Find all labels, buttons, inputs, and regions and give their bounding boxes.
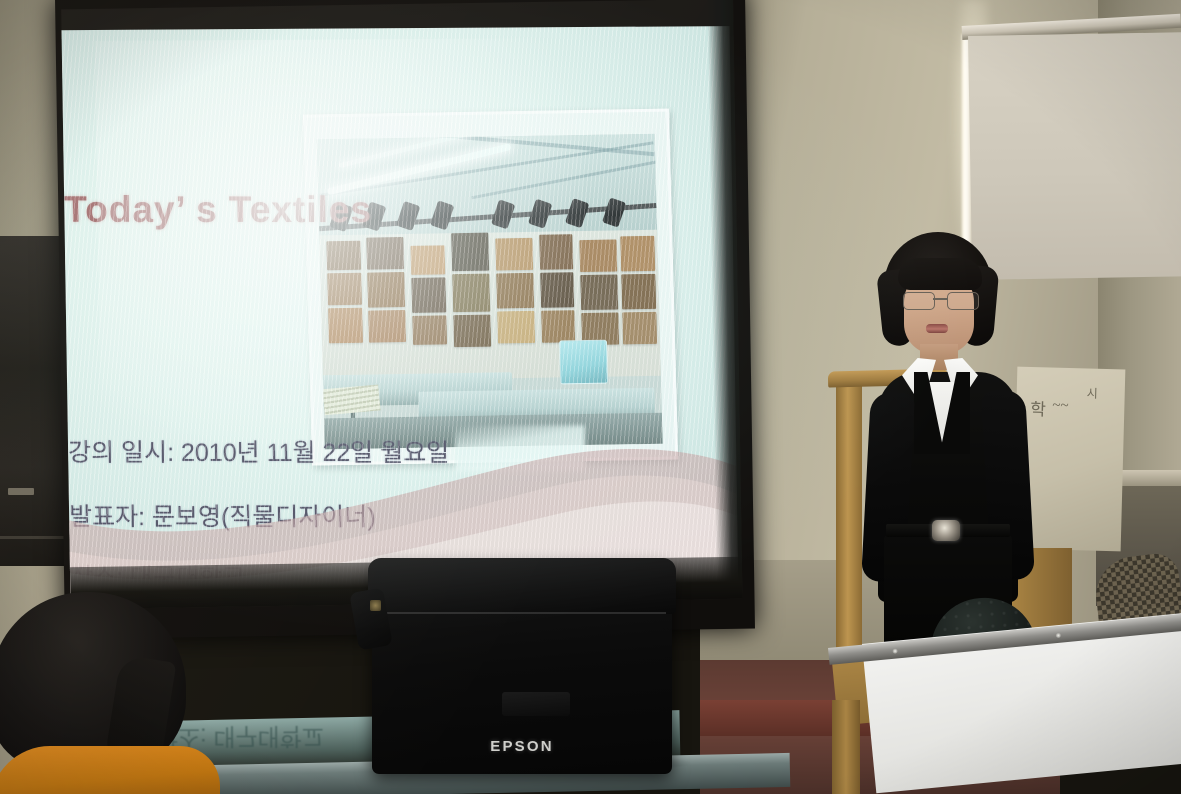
projection-screen-surface: Today’ s Textiles 강의 일시: 2010년 11월 22일 월… bbox=[61, 0, 742, 609]
photo-fabric-swatch bbox=[539, 234, 574, 270]
photo-fabric-swatch bbox=[540, 272, 575, 308]
photo-fabric-swatch bbox=[368, 310, 406, 343]
photo-fabric-swatch bbox=[451, 233, 489, 271]
photo-fabric-swatch bbox=[367, 272, 405, 308]
photo-fabric-swatch bbox=[621, 274, 656, 310]
photo-fabric-swatch bbox=[453, 314, 491, 347]
photo-fabric-swatch bbox=[541, 310, 576, 343]
photo-fabric-swatch bbox=[581, 274, 619, 310]
whiteboard-ink-mark: 시 bbox=[1087, 384, 1098, 401]
slide-photo-textile-showroom bbox=[317, 134, 663, 450]
bag-pocket bbox=[502, 692, 570, 716]
glasses-left-lens bbox=[903, 292, 935, 310]
photo-fabric-swatch bbox=[412, 277, 447, 313]
photo-fabric-swatch bbox=[413, 315, 448, 345]
photo-fabric-swatch bbox=[497, 311, 535, 344]
glasses-bridge bbox=[933, 298, 947, 300]
photo-fabric-swatch bbox=[622, 312, 657, 345]
table-screw bbox=[892, 648, 897, 653]
projection-screen: Today’ s Textiles 강의 일시: 2010년 11월 22일 월… bbox=[55, 0, 755, 639]
cabinet-handle[interactable] bbox=[8, 488, 34, 495]
photo-storage-bin bbox=[559, 339, 608, 384]
table-screw bbox=[1056, 633, 1061, 638]
photo-fabric-swatch bbox=[367, 237, 405, 270]
presentation-slide: Today’ s Textiles 강의 일시: 2010년 11월 22일 월… bbox=[61, 26, 738, 600]
bag-flap-seam bbox=[378, 612, 666, 614]
table-leg bbox=[832, 700, 860, 794]
photo-fabric-swatch bbox=[327, 273, 362, 306]
epson-brand-label: EPSON bbox=[372, 738, 672, 755]
whiteboard-ink-mark: ~~ bbox=[1052, 398, 1069, 415]
slide-line-presenter: 발표자: 문보영(직물디자이너) bbox=[69, 497, 376, 533]
slide-line-date: 강의 일시: 2010년 11월 22일 월요일 bbox=[68, 433, 450, 469]
glasses-icon bbox=[902, 292, 978, 308]
presenter-fringe bbox=[898, 258, 982, 290]
photo-fabric-swatch bbox=[326, 241, 361, 271]
bag-buckle bbox=[370, 600, 381, 611]
photo-fabric-stack bbox=[322, 385, 380, 416]
photo-fabric-swatch bbox=[496, 273, 534, 309]
student-orange-top bbox=[0, 746, 220, 794]
presenter-mouth bbox=[926, 324, 948, 333]
belt-buckle bbox=[932, 520, 960, 541]
presenter bbox=[840, 232, 1050, 662]
lecture-room-scene: 학 ~~ 시 bbox=[0, 0, 1181, 794]
photo-fabric-swatch bbox=[452, 273, 490, 311]
photo-fabric-swatch bbox=[328, 308, 363, 344]
photo-fabric-swatch bbox=[620, 236, 655, 272]
slide-title: Today’ s Textiles bbox=[64, 189, 465, 231]
bag-flap bbox=[368, 558, 676, 614]
photo-showroom-wall bbox=[319, 230, 661, 381]
photo-fabric-swatch bbox=[495, 238, 533, 271]
projector-bag[interactable]: EPSON bbox=[372, 562, 672, 774]
glasses-right-lens bbox=[947, 292, 979, 310]
photo-fabric-swatch bbox=[580, 239, 618, 272]
photo-fabric-swatch bbox=[411, 245, 446, 275]
slide-photo-frame bbox=[303, 109, 678, 466]
